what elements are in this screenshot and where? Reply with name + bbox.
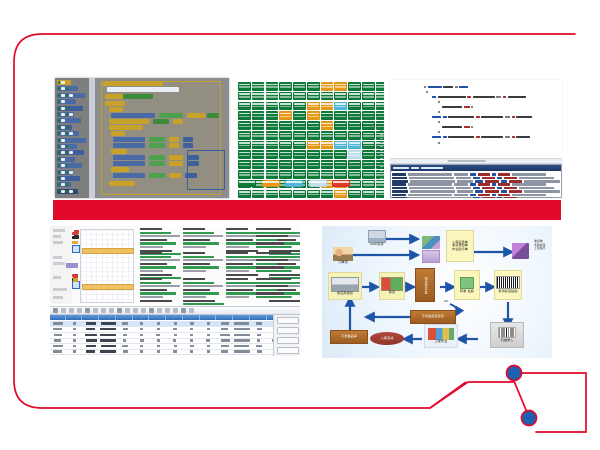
source-code-editor[interactable]: [390, 80, 562, 198]
slot-cell[interactable]: [348, 102, 361, 111]
grid-header-cell[interactable]: [134, 315, 150, 320]
flow-node-label-printer[interactable]: [508, 238, 532, 264]
slot-cell[interactable]: [266, 82, 279, 91]
table-cell[interactable]: [217, 343, 233, 348]
code-block[interactable]: [183, 137, 193, 142]
code-block[interactable]: [149, 155, 165, 160]
gantt-area[interactable]: [50, 226, 300, 304]
code-block[interactable]: [149, 161, 165, 166]
inbound-logistics-flowchart[interactable]: 订单员 ERP系统 入库任务单 收货通知单 作业指示单 收货单 条码标签 上架指…: [322, 226, 552, 358]
code-block[interactable]: [169, 173, 181, 178]
grid-header-cell[interactable]: [150, 315, 166, 320]
table-cell[interactable]: [200, 332, 216, 337]
table-cell[interactable]: [251, 355, 267, 356]
slot-cell[interactable]: [266, 141, 279, 150]
toolbar-icon[interactable]: [109, 308, 114, 313]
grid-header-cell[interactable]: [83, 315, 99, 320]
code-line[interactable]: [424, 86, 468, 88]
table-cell[interactable]: [150, 321, 166, 326]
toolbar-icon[interactable]: [101, 308, 106, 313]
slot-cell[interactable]: [252, 160, 265, 169]
table-cell[interactable]: [117, 343, 133, 348]
slot-cell[interactable]: [334, 141, 347, 150]
table-cell[interactable]: [251, 349, 267, 354]
code-line[interactable]: [438, 142, 440, 144]
code-block[interactable]: [123, 94, 153, 99]
code-block[interactable]: [113, 173, 145, 178]
blocks-palette[interactable]: [55, 78, 90, 198]
code-block[interactable]: [111, 167, 129, 172]
slot-cell[interactable]: [293, 190, 306, 198]
gantt-side-control[interactable]: [53, 256, 62, 259]
slot-cell[interactable]: [266, 170, 279, 179]
table-cell[interactable]: [150, 338, 166, 343]
slot-cell[interactable]: [348, 82, 361, 91]
table-cell[interactable]: [134, 327, 150, 332]
palette-block[interactable]: [57, 182, 71, 187]
slot-cell[interactable]: [334, 111, 347, 120]
code-block[interactable]: [109, 119, 149, 124]
table-cell[interactable]: [50, 321, 66, 326]
code-block[interactable]: [183, 143, 193, 148]
slot-cell[interactable]: [362, 82, 375, 91]
gantt-side-control[interactable]: [53, 229, 65, 232]
slot-cell[interactable]: [321, 121, 334, 130]
slot-cell[interactable]: [252, 141, 265, 150]
slot-cell[interactable]: [334, 160, 347, 169]
table-cell[interactable]: [67, 343, 83, 348]
slot-cell[interactable]: [307, 92, 320, 101]
table-cell[interactable]: [117, 327, 133, 332]
grid-toolbar[interactable]: [50, 307, 300, 315]
slot-cell[interactable]: [334, 102, 347, 111]
slot-cell[interactable]: [293, 131, 306, 140]
palette-block[interactable]: [57, 189, 78, 194]
code-block[interactable]: [113, 143, 145, 148]
table-cell[interactable]: [184, 349, 200, 354]
palette-block[interactable]: [57, 144, 77, 149]
grid-header-cell[interactable]: [201, 315, 217, 320]
slot-cell[interactable]: [321, 131, 334, 140]
table-cell[interactable]: [117, 349, 133, 354]
slot-cell[interactable]: [293, 111, 306, 120]
code-block[interactable]: [109, 107, 123, 112]
slot-cell[interactable]: [334, 121, 347, 130]
slot-cell[interactable]: [362, 150, 375, 159]
table-cell[interactable]: [100, 343, 116, 348]
gantt-bar[interactable]: [82, 248, 134, 254]
table-cell[interactable]: [201, 338, 217, 343]
toolbar-icon[interactable]: [69, 308, 74, 313]
slot-cell[interactable]: [321, 170, 334, 179]
slot-cell[interactable]: [348, 160, 361, 169]
table-cell[interactable]: [151, 332, 167, 337]
flow-node-reject-store[interactable]: 不合格品库: [330, 330, 368, 344]
slot-cell[interactable]: [293, 141, 306, 150]
palette-block[interactable]: [57, 118, 81, 123]
slot-cell[interactable]: [252, 92, 265, 101]
slot-cell[interactable]: [293, 102, 306, 111]
table-cell[interactable]: [217, 327, 233, 332]
table-row[interactable]: [50, 355, 300, 356]
grid-side-button[interactable]: [277, 327, 299, 334]
slot-cell[interactable]: [348, 150, 361, 159]
toolbar-icon[interactable]: [165, 308, 170, 313]
toolbar-icon[interactable]: [61, 308, 66, 313]
slot-cell[interactable]: [252, 170, 265, 179]
table-cell[interactable]: [167, 327, 183, 332]
gantt-timeline-grid[interactable]: [80, 229, 134, 303]
table-cell[interactable]: [100, 321, 116, 326]
code-block[interactable]: [109, 181, 135, 186]
code-block[interactable]: [111, 149, 127, 154]
slot-cell[interactable]: [362, 170, 375, 179]
table-cell[interactable]: [67, 355, 83, 356]
table-cell[interactable]: [234, 338, 250, 343]
slot-cell[interactable]: [266, 92, 279, 101]
slot-cell[interactable]: [376, 111, 384, 120]
palette-block[interactable]: [57, 112, 74, 117]
table-cell[interactable]: [167, 321, 183, 326]
slot-cell[interactable]: [238, 150, 251, 159]
slot-cell[interactable]: [293, 92, 306, 101]
flow-node-reject-area[interactable]: 不合格品暂存区: [410, 310, 456, 324]
slot-cell[interactable]: [321, 141, 334, 150]
slot-cell[interactable]: [362, 102, 375, 111]
table-cell[interactable]: [67, 338, 83, 343]
slot-cell[interactable]: [348, 111, 361, 120]
table-cell[interactable]: [83, 338, 99, 343]
slot-cell[interactable]: [334, 150, 347, 159]
table-cell[interactable]: [151, 355, 167, 356]
toolbar-icon[interactable]: [181, 308, 186, 313]
table-cell[interactable]: [184, 355, 200, 356]
build-output-console[interactable]: [390, 164, 562, 198]
flow-node-unload[interactable]: 卸货: [379, 272, 405, 300]
slot-cell[interactable]: [293, 150, 306, 159]
table-cell[interactable]: [50, 332, 66, 337]
table-cell[interactable]: [234, 327, 251, 332]
table-cell[interactable]: [117, 332, 133, 337]
toolbar-icon[interactable]: [77, 308, 82, 313]
table-cell[interactable]: [50, 355, 66, 356]
table-cell[interactable]: [134, 349, 150, 354]
palette-block[interactable]: [57, 138, 86, 143]
table-cell[interactable]: [83, 327, 99, 332]
table-cell[interactable]: [134, 343, 150, 348]
table-cell[interactable]: [201, 343, 217, 348]
slot-cell[interactable]: [252, 131, 265, 140]
palette-block[interactable]: [57, 163, 82, 168]
gantt-side-control[interactable]: [53, 235, 61, 238]
code-line[interactable]: [438, 111, 440, 113]
toolbar-icon[interactable]: [85, 308, 90, 313]
code-block[interactable]: [169, 143, 179, 148]
slot-cell[interactable]: [376, 102, 384, 111]
slot-cell[interactable]: [279, 150, 292, 159]
code-block[interactable]: [113, 155, 145, 160]
slot-cell[interactable]: [334, 82, 347, 91]
slot-cell[interactable]: [252, 102, 265, 111]
table-cell[interactable]: [234, 349, 251, 354]
code-block[interactable]: [207, 113, 219, 118]
table-cell[interactable]: [234, 343, 250, 348]
slot-cell[interactable]: [279, 141, 292, 150]
code-line[interactable]: [442, 106, 473, 108]
slot-cell[interactable]: [279, 190, 292, 198]
table-cell[interactable]: [117, 338, 133, 343]
slot-cell[interactable]: [279, 102, 292, 111]
table-cell[interactable]: [184, 321, 200, 326]
flow-node-wms-station[interactable]: [419, 232, 443, 266]
code-block[interactable]: [169, 155, 183, 160]
code-block[interactable]: [169, 161, 183, 166]
code-line[interactable]: [432, 116, 532, 118]
slot-cell[interactable]: [307, 121, 320, 130]
slot-cell[interactable]: [362, 180, 375, 189]
code-block[interactable]: [173, 119, 183, 124]
slot-cell[interactable]: [321, 92, 334, 101]
slot-cell[interactable]: [334, 190, 347, 198]
slot-cell[interactable]: [238, 131, 251, 140]
slot-cell[interactable]: [348, 141, 361, 150]
gantt-side-control[interactable]: [53, 296, 63, 299]
flow-node-receiving-area[interactable]: 收货暂存区: [415, 268, 435, 302]
table-cell[interactable]: [83, 355, 99, 356]
table-cell[interactable]: [217, 332, 233, 337]
palette-block[interactable]: [57, 86, 78, 91]
toolbar-icon[interactable]: [133, 308, 138, 313]
slot-cell[interactable]: [252, 150, 265, 159]
table-cell[interactable]: [167, 332, 183, 337]
grid-side-button[interactable]: [277, 347, 299, 354]
table-cell[interactable]: [67, 327, 83, 332]
code-block[interactable]: [153, 119, 169, 124]
slot-cell[interactable]: [293, 170, 306, 179]
grid-header-cell[interactable]: [100, 315, 116, 320]
toolbar-icon[interactable]: [53, 308, 58, 313]
table-cell[interactable]: [200, 327, 216, 332]
slot-cell[interactable]: [307, 111, 320, 120]
gantt-bar[interactable]: [82, 284, 134, 290]
grid-header-cell[interactable]: [251, 315, 267, 320]
slot-cell[interactable]: [362, 111, 375, 120]
table-cell[interactable]: [234, 321, 250, 326]
slot-cell[interactable]: [266, 111, 279, 120]
code-block[interactable]: [169, 137, 179, 142]
palette-block[interactable]: [57, 170, 73, 175]
grid-header-cell[interactable]: [217, 315, 233, 320]
code-block[interactable]: [149, 143, 165, 148]
table-cell[interactable]: [117, 321, 133, 326]
code-block[interactable]: [159, 113, 183, 118]
table-cell[interactable]: [134, 355, 150, 356]
code-block[interactable]: [103, 81, 163, 86]
code-text-area[interactable]: [390, 80, 562, 156]
slot-cell[interactable]: [348, 131, 361, 140]
flow-node-scan-in[interactable]: 扫描录入: [490, 322, 524, 348]
slot-cell[interactable]: [279, 121, 292, 130]
slot-cell[interactable]: [252, 121, 265, 130]
slot-cell[interactable]: [293, 121, 306, 130]
palette-block[interactable]: [57, 80, 71, 85]
table-cell[interactable]: [83, 343, 99, 348]
slot-cell[interactable]: [238, 160, 251, 169]
table-cell[interactable]: [134, 321, 150, 326]
table-cell[interactable]: [117, 355, 133, 356]
flow-node-weigh-check[interactable]: 称重·检验: [454, 270, 480, 300]
slot-cell[interactable]: [279, 131, 292, 140]
code-block[interactable]: [113, 137, 145, 142]
slot-cell[interactable]: [321, 160, 334, 169]
table-cell[interactable]: [217, 338, 233, 343]
table-cell[interactable]: [100, 327, 117, 332]
grid-side-button[interactable]: [277, 337, 299, 344]
slot-cell[interactable]: [266, 190, 279, 198]
slot-cell[interactable]: [238, 121, 251, 130]
palette-block[interactable]: [57, 131, 79, 136]
slot-cell[interactable]: [307, 150, 320, 159]
flow-node-supplier-deliver[interactable]: 供应商送货: [328, 272, 362, 300]
toolbar-icon[interactable]: [141, 308, 146, 313]
slot-cell[interactable]: [238, 141, 251, 150]
code-line[interactable]: [438, 101, 440, 103]
slot-cell[interactable]: [321, 111, 334, 120]
slot-cell[interactable]: [348, 180, 361, 189]
slot-cell[interactable]: [293, 160, 306, 169]
table-cell[interactable]: [184, 332, 200, 337]
slot-cell[interactable]: [334, 131, 347, 140]
toolbar-icon[interactable]: [189, 308, 194, 313]
slot-cell[interactable]: [334, 170, 347, 179]
table-cell[interactable]: [50, 338, 66, 343]
code-block[interactable]: [111, 113, 155, 118]
table-cell[interactable]: [167, 343, 183, 348]
code-block[interactable]: [107, 87, 179, 92]
slot-cell[interactable]: [252, 190, 265, 198]
slot-cell[interactable]: [238, 170, 251, 179]
table-cell[interactable]: [50, 327, 66, 332]
table-cell[interactable]: [67, 321, 83, 326]
slot-cell[interactable]: [362, 160, 375, 169]
slot-cell[interactable]: [376, 190, 384, 198]
slot-cell[interactable]: [279, 111, 292, 120]
table-cell[interactable]: [184, 327, 200, 332]
slot-cell[interactable]: [348, 190, 361, 198]
slot-cell[interactable]: [376, 92, 384, 101]
gantt-side-control[interactable]: [53, 262, 65, 265]
toolbar-icon[interactable]: [117, 308, 122, 313]
table-cell[interactable]: [50, 343, 66, 348]
slot-cell[interactable]: [279, 160, 292, 169]
table-cell[interactable]: [150, 343, 166, 348]
slot-cell[interactable]: [321, 82, 334, 91]
table-cell[interactable]: [234, 355, 251, 356]
table-cell[interactable]: [251, 343, 267, 348]
palette-block[interactable]: [57, 150, 84, 155]
flow-node-barcode-label[interactable]: 条码标签粘贴: [494, 270, 522, 300]
grid-header-cell[interactable]: [67, 315, 83, 320]
gantt-node-end[interactable]: [72, 281, 80, 289]
toolbar-icon[interactable]: [173, 308, 178, 313]
code-block[interactable]: [187, 113, 205, 118]
toolbar-icon[interactable]: [125, 308, 130, 313]
order-data-grid[interactable]: [50, 306, 300, 356]
slot-cell[interactable]: [279, 170, 292, 179]
code-block[interactable]: [111, 131, 125, 136]
slot-cell[interactable]: [307, 160, 320, 169]
slot-cell[interactable]: [321, 102, 334, 111]
slot-cell[interactable]: [252, 82, 265, 91]
code-block[interactable]: [149, 137, 165, 142]
production-scheduling-board[interactable]: [50, 226, 300, 356]
table-cell[interactable]: [167, 355, 183, 356]
table-cell[interactable]: [217, 321, 233, 326]
slot-cell[interactable]: [321, 150, 334, 159]
code-line[interactable]: [438, 121, 440, 123]
palette-block[interactable]: [57, 99, 76, 104]
slot-cell[interactable]: [307, 170, 320, 179]
table-cell[interactable]: [83, 349, 99, 354]
table-cell[interactable]: [251, 327, 267, 332]
slot-cell[interactable]: [348, 170, 361, 179]
table-cell[interactable]: [184, 338, 200, 343]
table-cell[interactable]: [251, 321, 267, 326]
table-cell[interactable]: [201, 321, 217, 326]
code-line[interactable]: [432, 96, 526, 98]
table-cell[interactable]: [184, 343, 200, 348]
slot-cell[interactable]: [307, 102, 320, 111]
table-cell[interactable]: [83, 332, 99, 337]
table-cell[interactable]: [151, 327, 167, 332]
table-cell[interactable]: [134, 338, 150, 343]
palette-block[interactable]: [57, 93, 85, 98]
console-log-row[interactable]: [392, 197, 560, 198]
code-line[interactable]: [432, 136, 530, 138]
code-line[interactable]: [438, 131, 440, 133]
table-cell[interactable]: [217, 355, 233, 356]
table-cell[interactable]: [67, 332, 83, 337]
slot-cell[interactable]: [307, 141, 320, 150]
slot-cell[interactable]: [321, 190, 334, 198]
slot-cell[interactable]: [334, 92, 347, 101]
grid-header-cell[interactable]: [50, 315, 66, 320]
slot-cell[interactable]: [266, 131, 279, 140]
slot-cell[interactable]: [238, 190, 251, 198]
slot-cell[interactable]: [266, 121, 279, 130]
gantt-node-start[interactable]: [72, 245, 80, 253]
code-block[interactable]: [109, 125, 143, 130]
blocks-canvas[interactable]: [95, 78, 229, 198]
palette-block[interactable]: [57, 125, 72, 130]
slot-cell[interactable]: [238, 92, 251, 101]
table-cell[interactable]: [100, 332, 117, 337]
grid-side-button[interactable]: [277, 317, 299, 324]
slot-cell[interactable]: [376, 82, 384, 91]
slot-cell[interactable]: [266, 102, 279, 111]
toolbar-icon[interactable]: [93, 308, 98, 313]
grid-header-row[interactable]: [50, 315, 300, 320]
slot-cell[interactable]: [307, 190, 320, 198]
slot-cell[interactable]: [307, 82, 320, 91]
slot-cell[interactable]: [362, 190, 375, 198]
flow-node-order-desk[interactable]: 订单员: [328, 244, 358, 268]
palette-block[interactable]: [57, 106, 83, 111]
grid-header-cell[interactable]: [117, 315, 133, 320]
slot-cell[interactable]: [293, 82, 306, 91]
slot-cell[interactable]: [362, 92, 375, 101]
gantt-side-control[interactable]: [53, 276, 61, 279]
